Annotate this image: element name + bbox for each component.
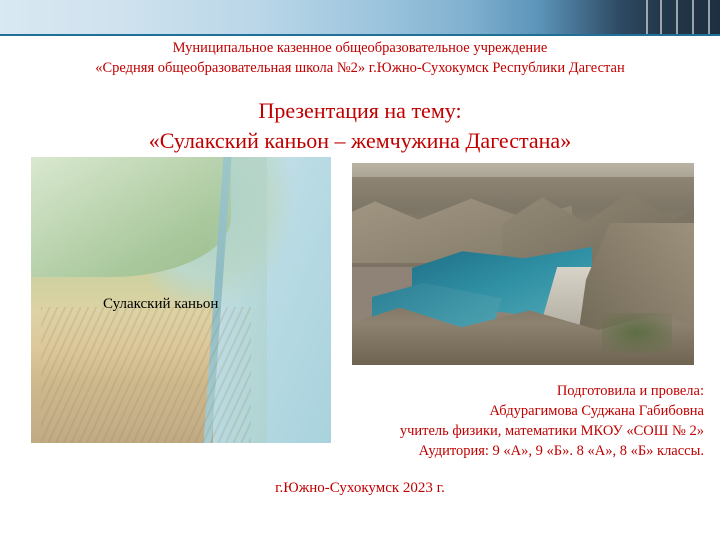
credits-line-1: Подготовила и провела: (322, 381, 704, 401)
map-caption: Сулакский каньон (103, 296, 218, 313)
credits-line-3: учитель физики, математики МКОУ «СОШ № 2… (322, 421, 704, 441)
banner-stripe (692, 0, 694, 36)
photo-vegetation (602, 313, 672, 353)
canyon-photo (352, 163, 694, 365)
credits-line-2: Абдурагимова Суджана Габибовна (322, 401, 704, 421)
footer-place-year: г.Южно-Сухокумск 2023 г. (0, 480, 720, 497)
banner-stripe (708, 0, 710, 36)
banner-underline (0, 34, 720, 36)
banner-stripe (646, 0, 648, 36)
page-title: Презентация на тему: «Сулакский каньон –… (0, 96, 720, 156)
banner-stripe (660, 0, 662, 36)
page-title-line-1: Презентация на тему: (0, 96, 720, 126)
decorative-top-banner (0, 0, 720, 36)
school-header-line-1: Муниципальное казенное общеобразовательн… (0, 38, 720, 58)
author-credits: Подготовила и провела: Абдурагимова Судж… (322, 381, 704, 461)
school-header-line-2: «Средняя общеобразовательная школа №2» г… (0, 58, 720, 78)
credits-line-4: Аудитория: 9 «А», 9 «Б». 8 «А», 8 «Б» кл… (322, 441, 704, 461)
school-header: Муниципальное казенное общеобразовательн… (0, 38, 720, 78)
banner-stripe (676, 0, 678, 36)
map-mountain-texture (41, 307, 251, 457)
page-title-line-2: «Сулакский каньон – жемчужина Дагестана» (0, 126, 720, 156)
map-bottom-margin (31, 443, 331, 457)
